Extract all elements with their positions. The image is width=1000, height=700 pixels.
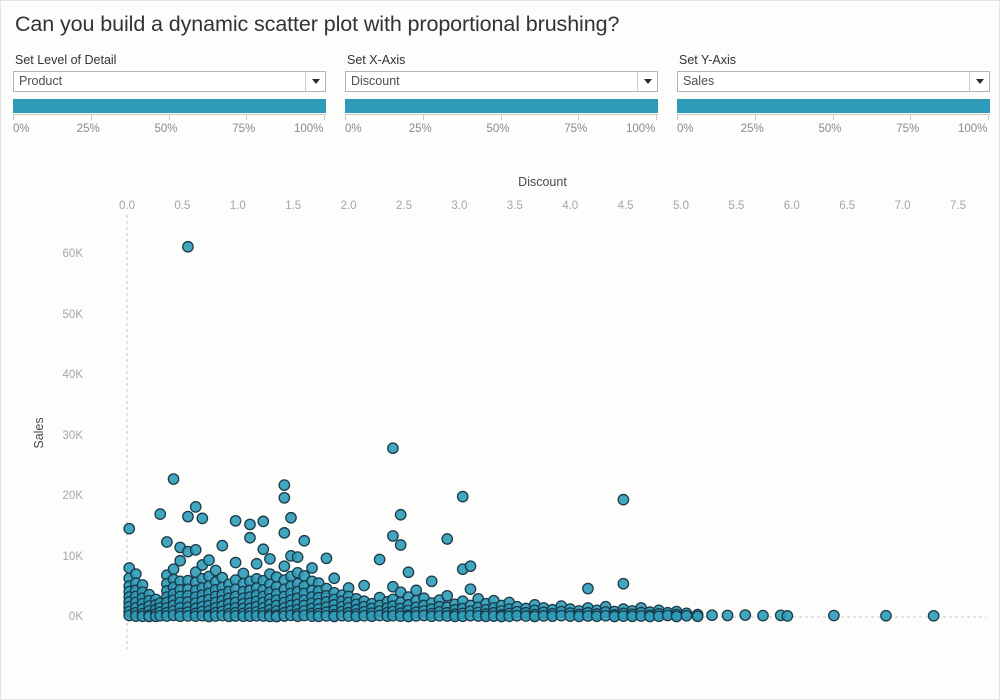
data-point[interactable]: [217, 540, 227, 550]
parameter-value-x-axis: Discount: [346, 72, 637, 91]
slider-tick: [656, 115, 657, 120]
data-point[interactable]: [782, 611, 792, 621]
slider-tick-label: 50%: [487, 123, 510, 135]
slider-tick: [578, 115, 579, 120]
slider-tick: [423, 115, 424, 120]
slider-tick: [755, 115, 756, 120]
data-point[interactable]: [292, 552, 302, 562]
parameter-select-level-of-detail[interactable]: Product: [13, 71, 326, 92]
scatter-plot-marks[interactable]: [1, 151, 999, 699]
parameter-value-level-of-detail: Product: [14, 72, 305, 91]
data-point[interactable]: [265, 554, 275, 564]
slider-tick-labels: 0%25%50%75%100%: [345, 123, 658, 137]
data-point[interactable]: [245, 533, 255, 543]
data-point[interactable]: [155, 509, 165, 519]
data-point[interactable]: [465, 561, 475, 571]
data-point[interactable]: [722, 610, 732, 620]
data-point[interactable]: [197, 513, 207, 523]
data-point[interactable]: [258, 544, 268, 554]
data-point[interactable]: [245, 519, 255, 529]
slider-tick-label: 100%: [958, 123, 987, 135]
data-point[interactable]: [183, 242, 193, 252]
parameter-label-x-axis: Set X-Axis: [347, 53, 658, 67]
data-point[interactable]: [299, 536, 309, 546]
data-point[interactable]: [403, 567, 413, 577]
data-point[interactable]: [307, 563, 317, 573]
slider-tick: [91, 115, 92, 120]
data-point[interactable]: [829, 610, 839, 620]
scatter-plot-chart: Discount 0.00.51.01.52.02.53.03.54.04.55…: [1, 151, 999, 699]
slider-tick: [501, 115, 502, 120]
data-point[interactable]: [124, 523, 134, 533]
caret-glyph: [312, 79, 320, 84]
data-point[interactable]: [465, 584, 475, 594]
data-point[interactable]: [321, 553, 331, 563]
parameter-select-y-axis[interactable]: Sales: [677, 71, 990, 92]
data-point[interactable]: [388, 443, 398, 453]
slider-tick-label: 0%: [677, 123, 694, 135]
data-point[interactable]: [359, 580, 369, 590]
slider-tick-label: 100%: [294, 123, 323, 135]
data-point[interactable]: [427, 576, 437, 586]
parameter-control-y-axis: Set Y-AxisSales0%25%50%75%100%: [677, 53, 990, 141]
parameter-slider-level-of-detail[interactable]: 0%25%50%75%100%: [13, 99, 326, 137]
data-point[interactable]: [230, 516, 240, 526]
parameter-control-x-axis: Set X-AxisDiscount0%25%50%75%100%: [345, 53, 658, 141]
slider-tick-labels: 0%25%50%75%100%: [13, 123, 326, 137]
page-title: Can you build a dynamic scatter plot wit…: [15, 12, 619, 37]
data-point[interactable]: [618, 579, 628, 589]
dashboard: Can you build a dynamic scatter plot wit…: [0, 0, 1000, 700]
data-point[interactable]: [175, 556, 185, 566]
caret-glyph: [644, 79, 652, 84]
chevron-down-icon[interactable]: [969, 72, 989, 91]
slider-tick: [677, 115, 678, 120]
slider-tick: [345, 115, 346, 120]
data-point[interactable]: [442, 534, 452, 544]
parameter-label-y-axis: Set Y-Axis: [679, 53, 990, 67]
chevron-down-icon[interactable]: [637, 72, 657, 91]
slider-tick-label: 0%: [13, 123, 30, 135]
slider-tick: [169, 115, 170, 120]
slider-tick-label: 75%: [564, 123, 587, 135]
slider-tick-label: 100%: [626, 123, 655, 135]
data-point[interactable]: [286, 513, 296, 523]
data-point[interactable]: [758, 610, 768, 620]
data-point[interactable]: [395, 540, 405, 550]
data-point[interactable]: [411, 585, 421, 595]
slider-fill[interactable]: [13, 99, 326, 113]
parameter-control-level-of-detail: Set Level of DetailProduct0%25%50%75%100…: [13, 53, 326, 141]
data-point[interactable]: [740, 610, 750, 620]
data-point[interactable]: [388, 531, 398, 541]
slider-axis-line: [345, 114, 658, 122]
data-point[interactable]: [168, 474, 178, 484]
data-point[interactable]: [258, 516, 268, 526]
slider-tick-labels: 0%25%50%75%100%: [677, 123, 990, 137]
slider-tick-label: 25%: [741, 123, 764, 135]
slider-tick: [910, 115, 911, 120]
data-point[interactable]: [928, 611, 938, 621]
slider-tick-label: 75%: [232, 123, 255, 135]
slider-tick-label: 25%: [409, 123, 432, 135]
data-point[interactable]: [583, 583, 593, 593]
slider-tick: [246, 115, 247, 120]
data-point[interactable]: [671, 611, 681, 621]
data-point[interactable]: [681, 611, 691, 621]
chevron-down-icon[interactable]: [305, 72, 325, 91]
parameter-slider-y-axis[interactable]: 0%25%50%75%100%: [677, 99, 990, 137]
data-point[interactable]: [395, 510, 405, 520]
slider-fill[interactable]: [345, 99, 658, 113]
slider-tick-label: 25%: [77, 123, 100, 135]
parameter-select-x-axis[interactable]: Discount: [345, 71, 658, 92]
data-point[interactable]: [191, 502, 201, 512]
slider-tick: [988, 115, 989, 120]
data-point[interactable]: [162, 537, 172, 547]
slider-tick: [324, 115, 325, 120]
parameter-label-level-of-detail: Set Level of Detail: [15, 53, 326, 67]
data-point[interactable]: [279, 493, 289, 503]
data-point[interactable]: [881, 611, 891, 621]
caret-glyph: [976, 79, 984, 84]
data-point[interactable]: [442, 591, 452, 601]
slider-tick-label: 0%: [345, 123, 362, 135]
slider-axis-line: [677, 114, 990, 122]
data-point[interactable]: [279, 561, 289, 571]
data-points[interactable]: [124, 242, 939, 622]
data-point[interactable]: [329, 573, 339, 583]
slider-tick: [833, 115, 834, 120]
data-point[interactable]: [251, 559, 261, 569]
data-point[interactable]: [374, 554, 384, 564]
data-point[interactable]: [183, 511, 193, 521]
data-point[interactable]: [204, 555, 214, 565]
data-point[interactable]: [692, 611, 702, 621]
slider-axis-line: [13, 114, 326, 122]
data-point[interactable]: [191, 545, 201, 555]
slider-tick-label: 75%: [896, 123, 919, 135]
data-point[interactable]: [230, 557, 240, 567]
parameter-slider-x-axis[interactable]: 0%25%50%75%100%: [345, 99, 658, 137]
data-point[interactable]: [279, 480, 289, 490]
slider-tick-label: 50%: [819, 123, 842, 135]
slider-tick-label: 50%: [155, 123, 178, 135]
data-point[interactable]: [618, 494, 628, 504]
data-point[interactable]: [458, 491, 468, 501]
data-point[interactable]: [707, 610, 717, 620]
slider-fill[interactable]: [677, 99, 990, 113]
slider-tick: [13, 115, 14, 120]
data-point[interactable]: [279, 528, 289, 538]
parameter-value-y-axis: Sales: [678, 72, 969, 91]
